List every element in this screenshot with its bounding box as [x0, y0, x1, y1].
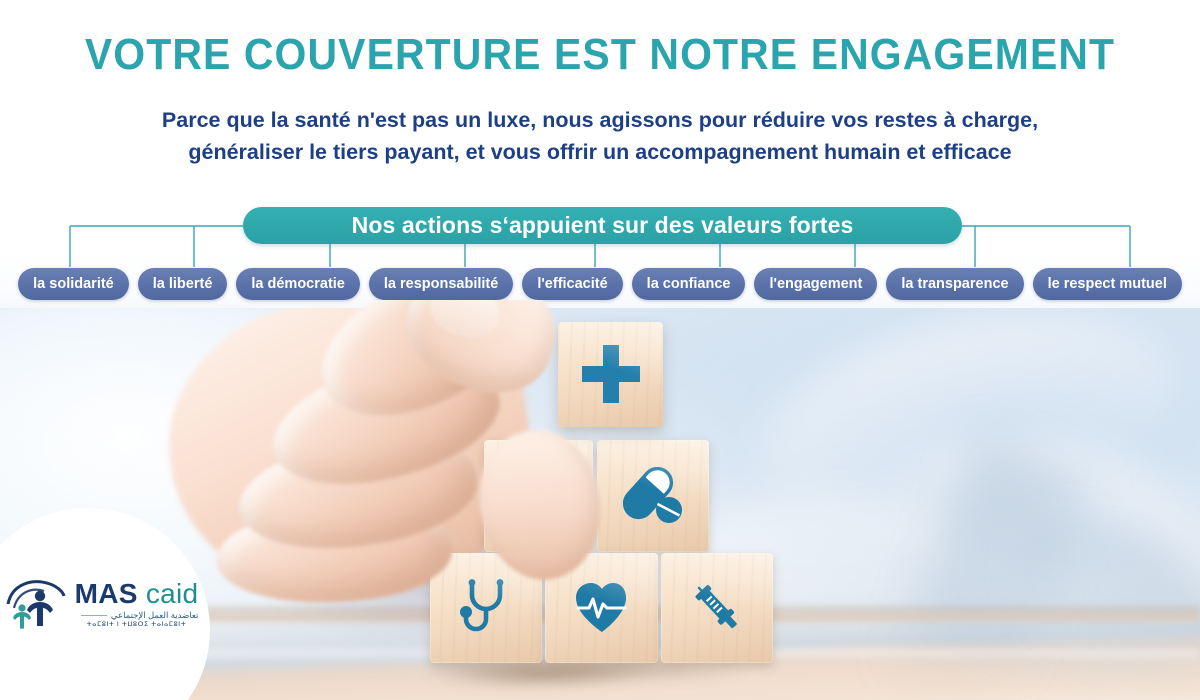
- value-pill-solidarite[interactable]: la solidarité: [18, 268, 129, 300]
- value-pill-efficacite[interactable]: l'efficacité: [522, 268, 622, 300]
- promotional-banner: VOTRE COUVERTURE EST NOTRE ENGAGEMENT Pa…: [0, 0, 1200, 700]
- value-pill-responsabilite[interactable]: la responsabilité: [369, 268, 513, 300]
- logo-wordmark: MAS caid: [75, 580, 199, 608]
- medical-cross-icon: [580, 344, 642, 406]
- heart-pulse-icon: [573, 581, 631, 635]
- value-pill-respect-mutuel[interactable]: le respect mutuel: [1033, 268, 1182, 300]
- logo-arabic-row: تعاضدية العمل الإجتماعي: [75, 611, 199, 620]
- values-banner: Nos actions s‘appuient sur des valeurs f…: [243, 207, 962, 244]
- block-pill: [597, 440, 709, 552]
- syringe-icon: [689, 580, 745, 636]
- value-pill-transparence[interactable]: la transparence: [886, 268, 1023, 300]
- stethoscope-icon: [457, 579, 515, 637]
- values-pill-row: la solidarité la liberté la démocratie l…: [0, 267, 1200, 301]
- pill-capsule-icon: [622, 467, 684, 525]
- page-title: VOTRE COUVERTURE EST NOTRE ENGAGEMENT: [42, 30, 1158, 80]
- subtitle-line-1: Parce que la santé n'est pas un luxe, no…: [162, 108, 1038, 132]
- value-pill-liberte[interactable]: la liberté: [138, 268, 228, 300]
- mas-caid-logo-mark: [6, 578, 66, 630]
- logo-text: MAS caid تعاضدية العمل الإجتماعي ⵜⴰⵎⵓⵏⵜ …: [75, 580, 199, 628]
- logo-divider: [81, 615, 107, 616]
- value-pill-engagement[interactable]: l'engagement: [754, 268, 877, 300]
- block-medical-cross: [558, 322, 663, 427]
- page-subtitle: Parce que la santé n'est pas un luxe, no…: [100, 104, 1100, 168]
- logo: MAS caid تعاضدية العمل الإجتماعي ⵜⴰⵎⵓⵏⵜ …: [6, 578, 199, 630]
- value-pill-confiance[interactable]: la confiance: [632, 268, 746, 300]
- block-shadow: [420, 660, 750, 682]
- value-pill-democratie[interactable]: la démocratie: [236, 268, 360, 300]
- logo-arabic-text: تعاضدية العمل الإجتماعي: [111, 611, 198, 620]
- logo-word-mas: MAS: [75, 578, 138, 609]
- values-banner-label: Nos actions s‘appuient sur des valeurs f…: [352, 212, 854, 239]
- subtitle-line-2: généraliser le tiers payant, et vous off…: [100, 136, 1100, 168]
- logo-tifinagh-text: ⵜⴰⵎⵓⵏⵜ ⵏ ⵜⵡⵓⵔⵉ ⵜⴰⵏⴰⵎⵓⵏⵜ: [75, 622, 199, 629]
- logo-word-caid: caid: [146, 578, 199, 609]
- block-syringe: [661, 553, 773, 663]
